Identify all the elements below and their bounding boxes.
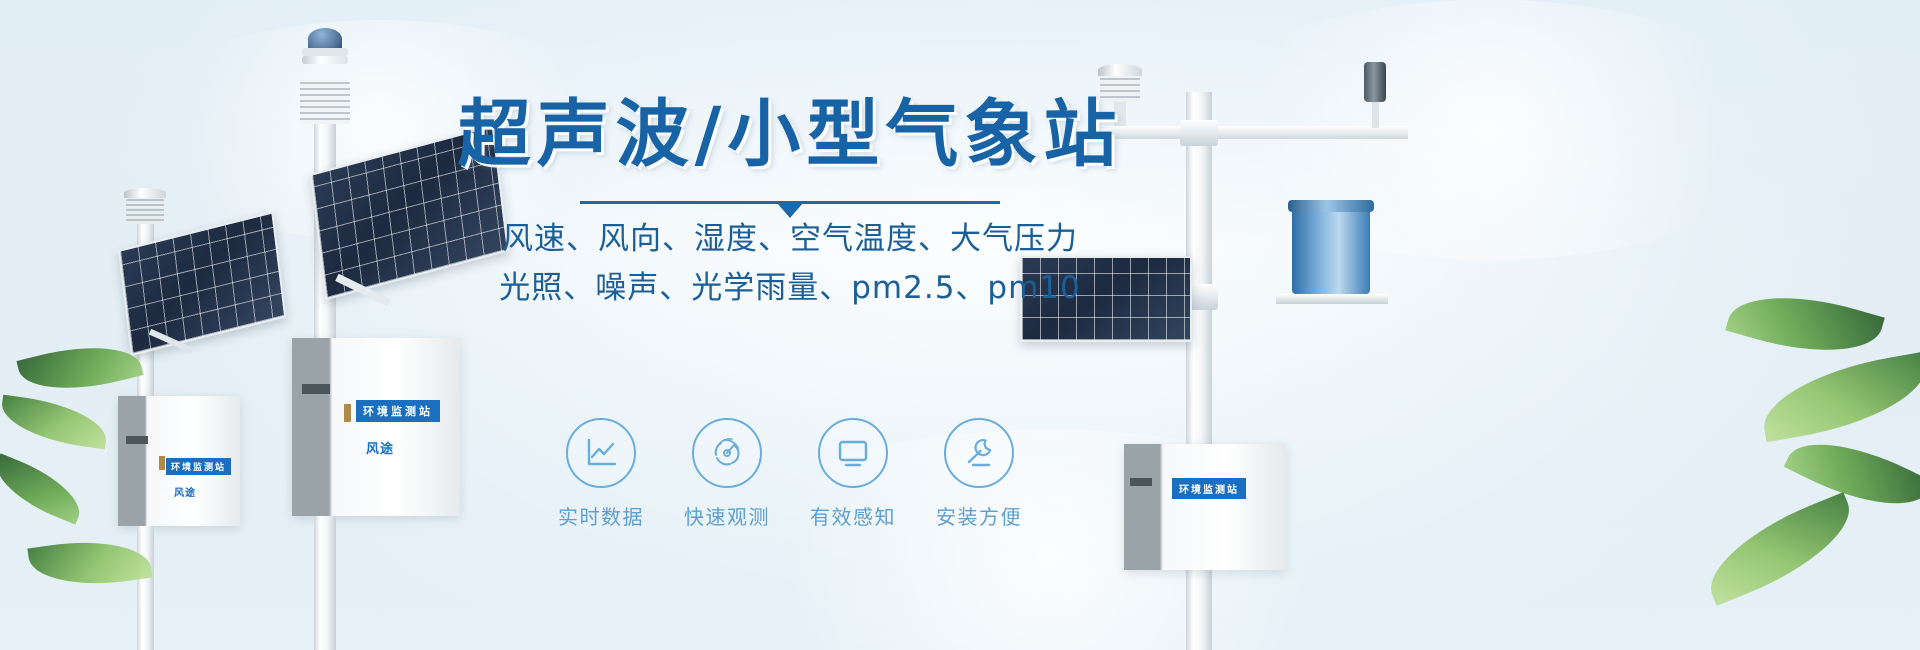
feature-label: 安装方便 [923,501,1035,530]
optical-rain-sensor [1364,62,1386,102]
monitor-display-icon [834,434,872,472]
equipment-cabinet: 环境监测站 风途 [118,396,240,526]
feature-icon-circle [566,418,636,488]
cabinet-label: 环境监测站 [166,458,231,475]
equipment-cabinet: 环境监测站 [1124,444,1286,570]
line-chart-icon [582,434,620,472]
feature-item-effective-sensing[interactable]: 有效感知 [797,418,909,530]
subtitle-line-1: 风速、风向、湿度、空气温度、大气压力 [440,215,1140,264]
radiation-shield-sensor [300,80,350,124]
leaf-decoration [1695,492,1865,606]
feature-label: 实时数据 [545,501,657,530]
headline-block: 超声波/小型气象站 风速、风向、湿度、空气温度、大气压力 光照、噪声、光学雨量、… [440,96,1140,313]
pole-clamp [1180,120,1218,146]
feature-icon-circle [944,418,1014,488]
feature-item-fast-observation[interactable]: 快速观测 [671,418,783,530]
equipment-cabinet: 环境监测站 风途 [292,338,460,516]
feature-icon-circle [692,418,762,488]
ultrasonic-anemometer-sensor [1098,64,1142,76]
bucket-shelf [1276,294,1388,304]
sensor-collar [302,48,348,56]
leaf-decoration [0,395,110,450]
feature-item-realtime-data[interactable]: 实时数据 [545,418,657,530]
feature-item-easy-install[interactable]: 安装方便 [923,418,1035,530]
bucket-rim [1288,200,1374,212]
lower-mast [314,516,336,650]
horizontal-cross-arm [1108,126,1408,139]
sensor-stem [1372,102,1379,128]
divider-triangle-icon [777,203,803,218]
cabinet-label: 环境监测站 [356,400,440,422]
product-banner: 环境监测站 风途 环境监测站 风途 [0,0,1920,650]
wrench-tool-icon [960,434,998,472]
subtitle-line-2: 光照、噪声、光学雨量、pm2.5、pm10 [440,264,1140,313]
radiation-shield-sensor [124,188,166,198]
leaf-decoration [1756,352,1920,443]
title-divider [580,201,1000,215]
leaf-decoration [0,453,90,524]
feature-icon-circle [818,418,888,488]
cabinet-brand-logo: 风途 [174,484,196,499]
sensor-plates [126,198,164,224]
page-title: 超声波/小型气象站 [440,96,1140,175]
feature-label: 有效感知 [797,501,909,530]
radiation-shield-plates [302,56,348,64]
cabinet-label: 环境监测站 [1172,478,1246,499]
feature-label: 快速观测 [671,501,783,530]
feature-list: 实时数据 快速观测 [545,418,1035,530]
leaf-decoration [1725,276,1885,371]
rain-gauge-bucket [1292,204,1370,294]
cabinet-brand-logo: 风途 [366,438,394,457]
dome-sensor [308,28,342,50]
lower-mast [137,526,154,650]
radar-observation-icon [708,434,746,472]
